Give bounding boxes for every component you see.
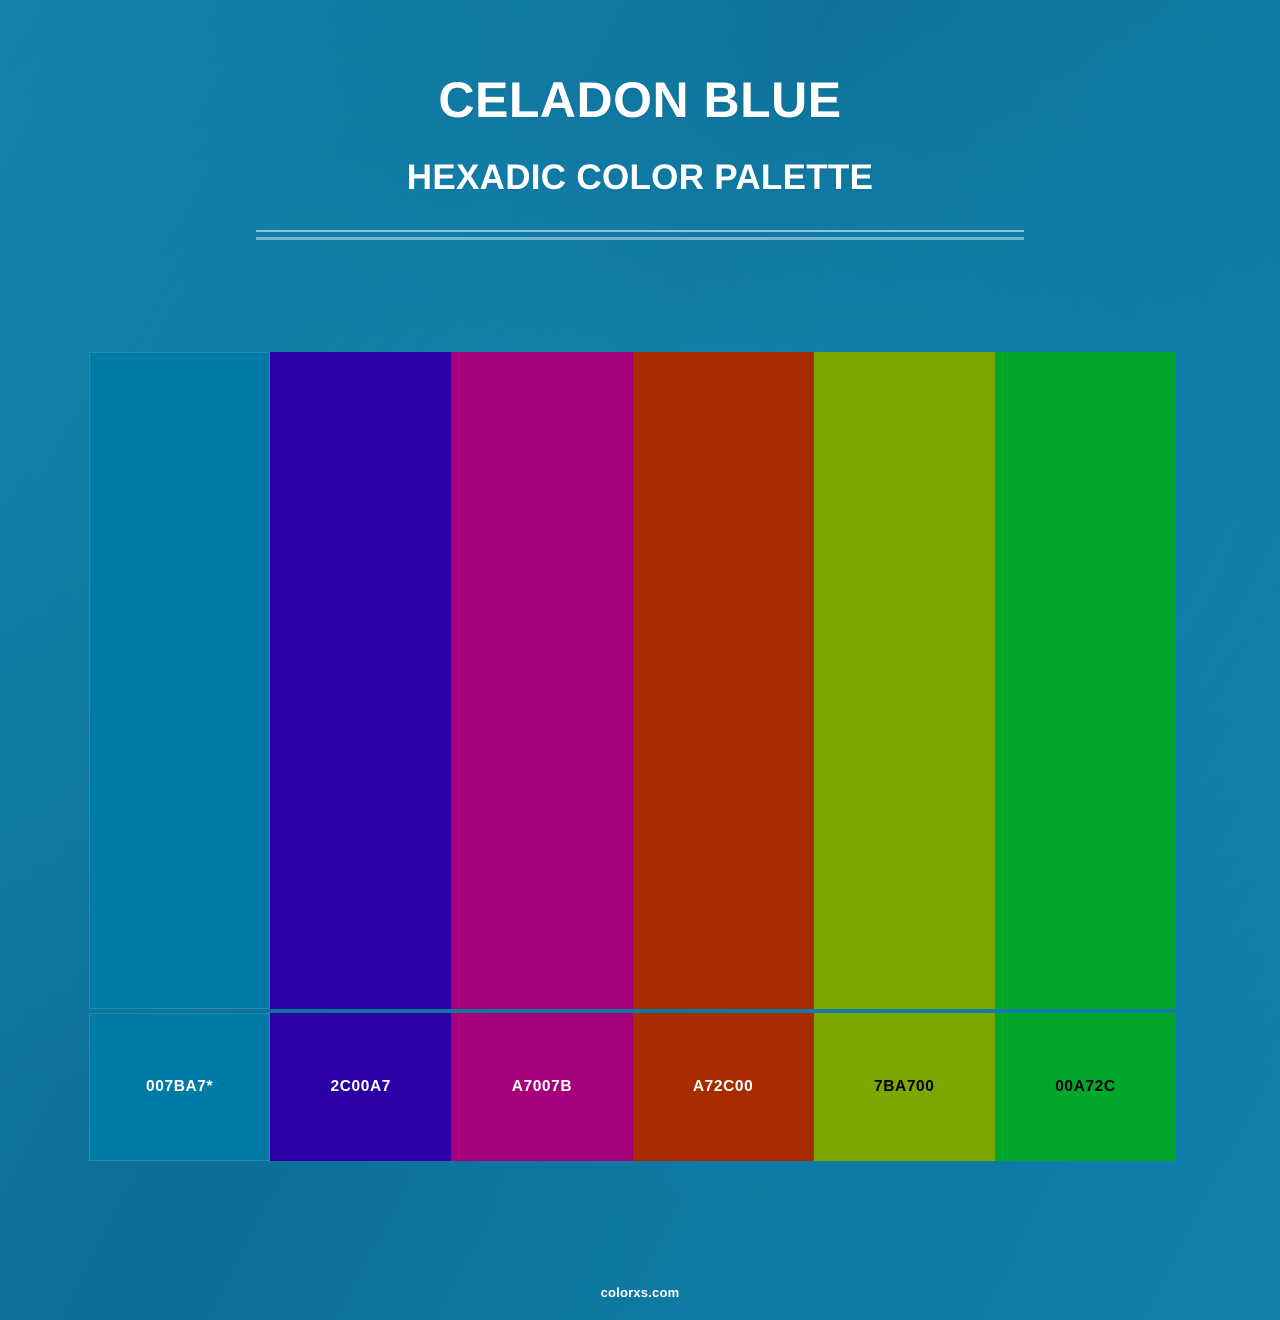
swatch-label-block[interactable]: 7BA700 bbox=[814, 1013, 995, 1161]
divider-rule-bottom bbox=[256, 237, 1024, 240]
swatch-column[interactable]: 00A72C bbox=[995, 352, 1176, 1161]
swatch-label-block[interactable]: 00A72C bbox=[995, 1013, 1176, 1161]
palette-page: CELADON BLUE HEXADIC COLOR PALETTE 007BA… bbox=[0, 0, 1280, 1320]
swatch-color-block[interactable] bbox=[89, 352, 270, 1009]
swatch-color-block[interactable] bbox=[814, 352, 995, 1009]
swatch-column[interactable]: A7007B bbox=[451, 352, 632, 1161]
swatch-column[interactable]: A72C00 bbox=[633, 352, 814, 1161]
page-header: CELADON BLUE HEXADIC COLOR PALETTE bbox=[0, 0, 1280, 196]
swatch-color-block[interactable] bbox=[995, 352, 1176, 1009]
swatch-color-block[interactable] bbox=[633, 352, 814, 1009]
swatch-hex-label: A72C00 bbox=[693, 1078, 753, 1096]
swatch-hex-label: 007BA7* bbox=[146, 1078, 213, 1096]
title-divider bbox=[256, 230, 1024, 241]
swatch-column[interactable]: 7BA700 bbox=[814, 352, 995, 1161]
page-footer: colorxs.com bbox=[0, 1285, 1280, 1300]
swatch-label-block[interactable]: A7007B bbox=[451, 1013, 632, 1161]
page-subtitle: HEXADIC COLOR PALETTE bbox=[0, 160, 1280, 197]
site-credit: colorxs.com bbox=[0, 1285, 1280, 1300]
swatch-column[interactable]: 007BA7* bbox=[89, 352, 270, 1161]
swatch-label-block[interactable]: 2C00A7 bbox=[270, 1013, 451, 1161]
color-palette: 007BA7*2C00A7A7007BA72C007BA70000A72C bbox=[89, 352, 1176, 1161]
swatch-hex-label: 00A72C bbox=[1055, 1078, 1115, 1096]
divider-rule-top bbox=[256, 230, 1024, 232]
swatch-label-block[interactable]: 007BA7* bbox=[89, 1013, 270, 1161]
page-title: CELADON BLUE bbox=[0, 74, 1280, 127]
swatch-label-block[interactable]: A72C00 bbox=[633, 1013, 814, 1161]
swatch-color-block[interactable] bbox=[270, 352, 451, 1009]
swatch-hex-label: 2C00A7 bbox=[331, 1078, 391, 1096]
swatch-hex-label: 7BA700 bbox=[874, 1078, 934, 1096]
swatch-color-block[interactable] bbox=[451, 352, 632, 1009]
swatch-column[interactable]: 2C00A7 bbox=[270, 352, 451, 1161]
swatch-hex-label: A7007B bbox=[512, 1078, 572, 1096]
